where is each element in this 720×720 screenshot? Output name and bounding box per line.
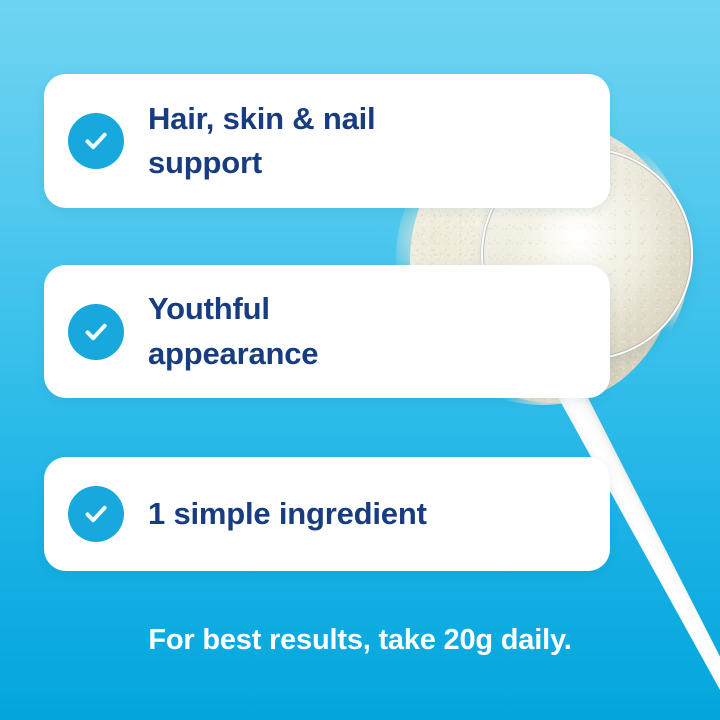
- feature-card-hair-skin-nail: Hair, skin & nail support: [44, 74, 610, 208]
- feature-card-label: 1 simple ingredient: [148, 492, 427, 536]
- dosage-instruction: For best results, take 20g daily.: [0, 624, 720, 657]
- check-icon: [68, 113, 124, 169]
- check-icon: [68, 486, 124, 542]
- check-icon: [68, 304, 124, 360]
- promo-graphic: Hair, skin & nail support Youthful appea…: [0, 0, 720, 720]
- feature-card-one-simple-ingredient: 1 simple ingredient: [44, 457, 610, 571]
- feature-card-youthful-appearance: Youthful appearance: [44, 265, 610, 398]
- feature-card-label: Youthful appearance: [148, 287, 388, 375]
- feature-card-label: Hair, skin & nail support: [148, 97, 388, 185]
